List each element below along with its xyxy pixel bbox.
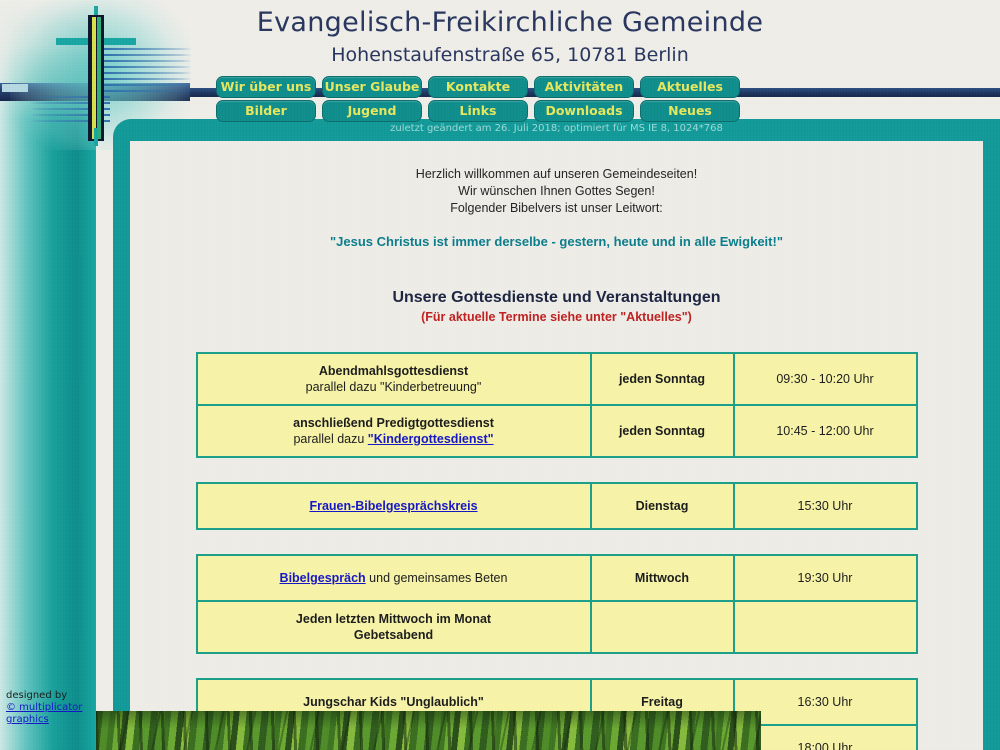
nav-item-wir-ueber-uns[interactable]: Wir über uns xyxy=(216,76,316,98)
cell-day: Mittwoch xyxy=(591,555,734,601)
welcome-line-3: Folgender Bibelvers ist unser Leitwort: xyxy=(130,200,983,217)
cell-time: 19:30 Uhr xyxy=(734,555,917,601)
main-navigation: Wir über uns Unser Glaube Kontakte Aktiv… xyxy=(216,76,740,124)
cell-time: 09:30 - 10:20 Uhr xyxy=(734,353,917,405)
cell-event-name: Bibelgespräch und gemeinsames Beten xyxy=(197,555,591,601)
cell-time: 10:45 - 12:00 Uhr xyxy=(734,405,917,457)
cell-event-name: Frauen-Bibelgesprächskreis xyxy=(197,483,591,529)
nav-row-secondary: Bilder Jugend Links Downloads Neues xyxy=(216,100,740,122)
credit-link-graphics[interactable]: graphics xyxy=(6,714,49,725)
cross-stripe-yellow xyxy=(92,17,96,139)
link-kindergottesdienst[interactable]: "Kindergottesdienst" xyxy=(368,432,494,446)
cell-time: 15:30 Uhr xyxy=(734,483,917,529)
table-row: Abendmahlsgottesdienst parallel dazu "Ki… xyxy=(197,353,917,405)
credit-label: designed by xyxy=(6,690,82,702)
nav-item-unser-glaube[interactable]: Unser Glaube xyxy=(322,76,422,98)
page-header: Evangelisch-Freikirchliche Gemeinde Hohe… xyxy=(160,6,860,68)
schedule-table-wednesday: Bibelgespräch und gemeinsames Beten Mitt… xyxy=(196,554,918,654)
table-row: Frauen-Bibelgesprächskreis Dienstag 15:3… xyxy=(197,483,917,529)
cell-day: Dienstag xyxy=(591,483,734,529)
schedule-table-tuesday: Frauen-Bibelgesprächskreis Dienstag 15:3… xyxy=(196,482,918,530)
main-content: Herzlich willkommen auf unseren Gemeinde… xyxy=(130,141,983,750)
nav-item-kontakte[interactable]: Kontakte xyxy=(428,76,528,98)
table-row: Jeden letzten Mittwoch im Monat Gebetsab… xyxy=(197,601,917,653)
cell-day xyxy=(591,601,734,653)
cell-event-name: Jeden letzten Mittwoch im Monat Gebetsab… xyxy=(197,601,591,653)
event-title: anschließend Predigtgottesdienst xyxy=(293,416,494,430)
section-title: Unsere Gottesdienste und Veranstaltungen xyxy=(130,289,983,307)
cross-stripe-green xyxy=(97,17,101,139)
nav-item-bilder[interactable]: Bilder xyxy=(216,100,316,122)
table-row: Bibelgespräch und gemeinsames Beten Mitt… xyxy=(197,555,917,601)
nav-item-aktuelles[interactable]: Aktuelles xyxy=(640,76,740,98)
welcome-line-1: Herzlich willkommen auf unseren Gemeinde… xyxy=(130,166,983,183)
cell-time xyxy=(734,601,917,653)
table-row: anschließend Predigtgottesdienst paralle… xyxy=(197,405,917,457)
link-frauen-bibelgespraechskreis[interactable]: Frauen-Bibelgesprächskreis xyxy=(309,499,477,513)
nav-item-aktivitaeten[interactable]: Aktivitäten xyxy=(534,76,634,98)
cross-vertical-beam xyxy=(88,15,104,141)
cell-event-name: anschließend Predigtgottesdienst paralle… xyxy=(197,405,591,457)
event-line-2: Gebetsabend xyxy=(354,628,433,642)
cell-day: jeden Sonntag xyxy=(591,405,734,457)
forest-photo xyxy=(96,711,761,750)
nav-item-jugend[interactable]: Jugend xyxy=(322,100,422,122)
bible-verse: "Jesus Christus ist immer derselbe - ges… xyxy=(130,234,983,249)
cell-day: jeden Sonntag xyxy=(591,353,734,405)
link-bibelgespraech[interactable]: Bibelgespräch xyxy=(280,571,366,585)
forest-photo-overlay xyxy=(96,711,761,750)
event-subtitle-prefix: parallel dazu xyxy=(293,432,367,446)
nav-item-links[interactable]: Links xyxy=(428,100,528,122)
schedule-table-sunday: Abendmahlsgottesdienst parallel dazu "Ki… xyxy=(196,352,918,458)
welcome-block: Herzlich willkommen auf unseren Gemeinde… xyxy=(130,166,983,217)
event-name-rest: und gemeinsames Beten xyxy=(366,571,508,585)
nav-item-downloads[interactable]: Downloads xyxy=(534,100,634,122)
event-subtitle: parallel dazu "Kinderbetreuung" xyxy=(306,380,482,394)
designer-credit: designed by © multiplicator graphics xyxy=(6,690,82,726)
credit-link-multiplicator[interactable]: © multiplicator xyxy=(6,702,82,713)
site-title: Evangelisch-Freikirchliche Gemeinde xyxy=(160,6,860,40)
nav-row-primary: Wir über uns Unser Glaube Kontakte Aktiv… xyxy=(216,76,740,98)
content-frame: zuletzt geändert am 26. Juli 2018; optim… xyxy=(113,119,1000,750)
event-title: Abendmahlsgottesdienst xyxy=(319,364,468,378)
section-note: (Für aktuelle Termine siehe unter "Aktue… xyxy=(130,310,983,324)
cell-event-name: Abendmahlsgottesdienst parallel dazu "Ki… xyxy=(197,353,591,405)
last-updated-text: zuletzt geändert am 26. Juli 2018; optim… xyxy=(113,123,1000,134)
event-line-1: Jeden letzten Mittwoch im Monat xyxy=(296,612,491,626)
nav-item-neues[interactable]: Neues xyxy=(640,100,740,122)
welcome-line-2: Wir wünschen Ihnen Gottes Segen! xyxy=(130,183,983,200)
site-address: Hohenstaufenstraße 65, 10781 Berlin xyxy=(160,42,860,68)
cross-vertical-bottom-tip xyxy=(94,128,98,146)
